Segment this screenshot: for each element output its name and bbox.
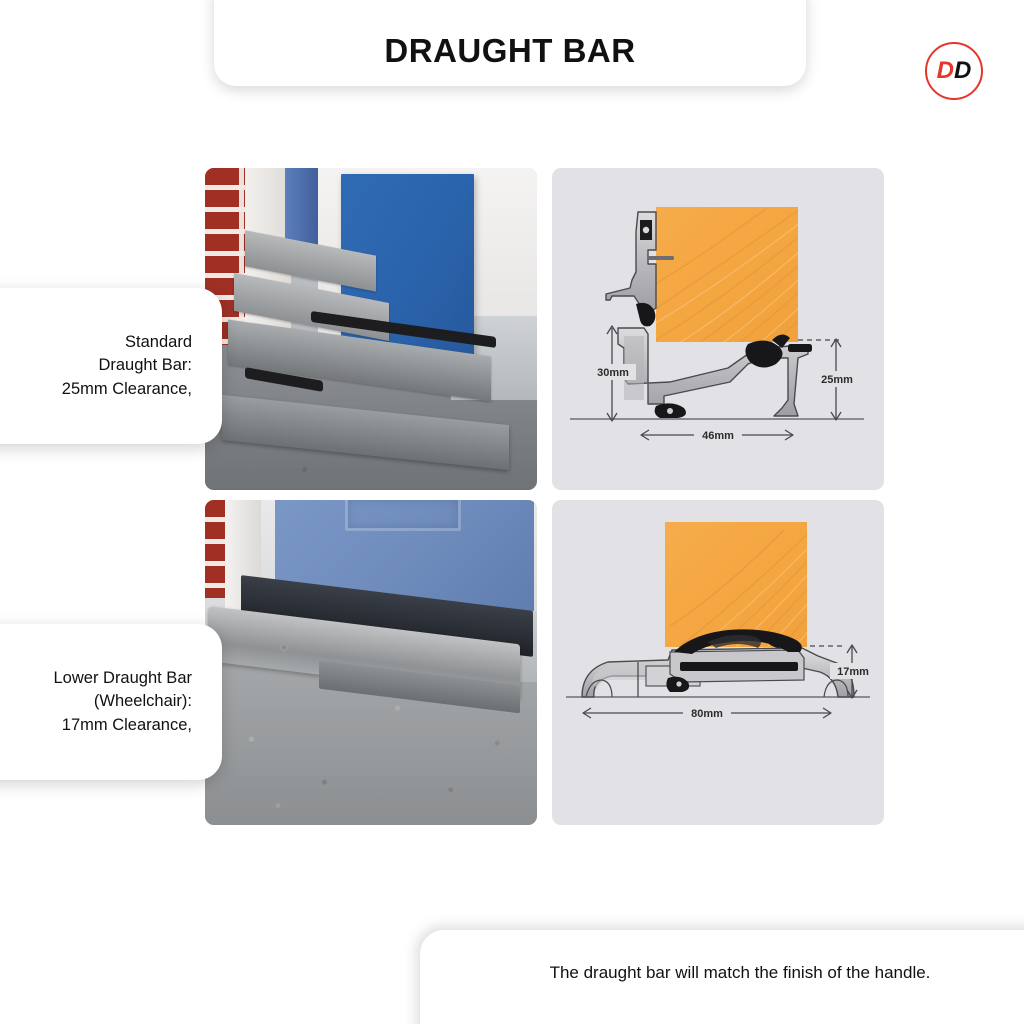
logo-text: DD <box>937 59 972 83</box>
standard-bar-label-card: Standard Draught Bar: 25mm Clearance, <box>0 288 222 444</box>
fixing-screw <box>648 256 674 260</box>
door-panel-moulding <box>345 500 462 531</box>
standard-draught-bar-diagram: 30mm 25mm 46mm <box>552 168 884 490</box>
page-title: DRAUGHT BAR <box>384 32 635 70</box>
seal-strip <box>680 662 798 671</box>
logo-letter-first: D <box>937 57 954 84</box>
dimension-label-30mm: 30mm <box>597 367 629 379</box>
lower-draught-bar-photo <box>205 500 537 825</box>
standard-label-line-2: Draught Bar: <box>0 354 192 377</box>
dimension-label-46mm: 46mm <box>702 430 734 442</box>
title-card: DRAUGHT BAR <box>214 0 806 86</box>
infographic-page: DRAUGHT BAR DD <box>0 0 1024 1024</box>
lower-bar-label-card: Lower Draught Bar (Wheelchair): 17mm Cle… <box>0 624 222 780</box>
standard-draught-bar-photo <box>205 168 537 490</box>
dimension-label-80mm: 80mm <box>691 708 723 720</box>
threshold-base-plate <box>222 395 509 470</box>
lower-draught-bar-diagram: 17mm 80mm <box>552 500 884 825</box>
dimension-label-17mm: 17mm <box>837 666 869 678</box>
standard-label-line-1: Standard <box>0 331 192 354</box>
logo-letter-second: D <box>954 57 971 84</box>
footer-note-card: The draught bar will match the finish of… <box>420 930 1024 1024</box>
brand-logo: DD <box>925 42 983 100</box>
lower-label-line-1: Lower Draught Bar <box>0 667 192 690</box>
standard-label-line-3: 25mm Clearance, <box>0 378 192 401</box>
footer-note-text: The draught bar will match the finish of… <box>550 963 931 983</box>
fixing-screw <box>280 643 288 652</box>
lower-label-line-2: (Wheelchair): <box>0 690 192 713</box>
wood-door-section <box>665 522 807 647</box>
wood-door-section <box>656 207 798 342</box>
dimension-label-25mm: 25mm <box>821 374 853 386</box>
seal-tail <box>788 344 812 352</box>
threshold-assembly <box>222 239 521 464</box>
lower-label-line-3: 17mm Clearance, <box>0 714 192 737</box>
